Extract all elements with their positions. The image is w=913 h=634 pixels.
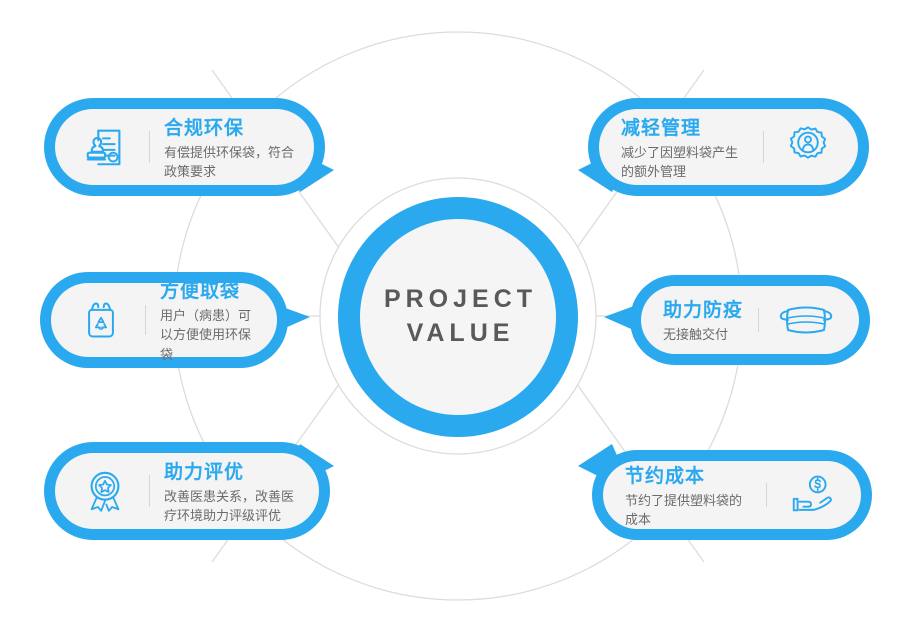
- card-convenient-bag-title: 方便取袋: [160, 276, 261, 303]
- card-reduce-management-title: 减轻管理: [621, 113, 749, 140]
- card-divider: [149, 131, 150, 163]
- card-rating-excellence-title: 助力评优: [164, 457, 303, 484]
- card-reduce-management[interactable]: 减轻管理 减少了因塑料袋产生的额外管理: [588, 98, 869, 196]
- card-compliance-desc: 有偿提供环保袋，符合政策要求: [164, 143, 298, 182]
- infographic-canvas: 合规环保 有偿提供环保袋，符合政策要求 减轻管理 减少了因塑料袋产生的额外管理: [0, 0, 913, 634]
- card-epidemic-prevention-title: 助力防疫: [663, 295, 744, 322]
- document-stamp-icon: [75, 117, 135, 177]
- center-hub-inner: PROJECT VALUE: [360, 219, 556, 415]
- hub-title-line1: PROJECT: [379, 283, 537, 317]
- card-compliance-title: 合规环保: [164, 113, 298, 140]
- card-divider: [766, 483, 767, 507]
- card-epidemic-prevention[interactable]: 助力防疫 无接触交付: [630, 275, 870, 365]
- hub-title-line2: VALUE: [402, 317, 515, 351]
- card-divider: [763, 131, 764, 163]
- recycle-bag-icon: [71, 290, 131, 350]
- card-convenient-bag-body: 方便取袋 用户（病患）可以方便使用环保袋: [51, 283, 277, 357]
- hand-money-icon: [781, 465, 841, 525]
- card-epidemic-prevention-body: 助力防疫 无接触交付: [641, 286, 859, 354]
- gear-person-icon: [778, 117, 838, 177]
- card-cost-saving[interactable]: 节约成本 节约了提供塑料袋的成本: [592, 450, 872, 540]
- card-divider: [149, 475, 150, 507]
- face-mask-icon: [773, 290, 839, 350]
- center-hub: PROJECT VALUE: [338, 197, 578, 437]
- card-reduce-management-text: 减轻管理 减少了因塑料袋产生的额外管理: [621, 113, 749, 182]
- card-reduce-management-body: 减轻管理 减少了因塑料袋产生的额外管理: [599, 109, 858, 185]
- card-cost-saving-text: 节约成本 节约了提供塑料袋的成本: [625, 461, 752, 530]
- card-cost-saving-body: 节约成本 节约了提供塑料袋的成本: [603, 461, 861, 529]
- card-cost-saving-desc: 节约了提供塑料袋的成本: [625, 491, 752, 530]
- card-epidemic-prevention-text: 助力防疫 无接触交付: [663, 295, 744, 345]
- card-rating-excellence-text: 助力评优 改善医患关系，改善医疗环境助力评级评优: [164, 457, 303, 526]
- card-convenient-bag-text: 方便取袋 用户（病患）可以方便使用环保袋: [160, 276, 261, 365]
- card-compliance-text: 合规环保 有偿提供环保袋，符合政策要求: [164, 113, 298, 182]
- card-divider: [758, 308, 759, 332]
- card-compliance-body: 合规环保 有偿提供环保袋，符合政策要求: [55, 109, 314, 185]
- card-compliance[interactable]: 合规环保 有偿提供环保袋，符合政策要求: [44, 98, 325, 196]
- card-convenient-bag[interactable]: 方便取袋 用户（病患）可以方便使用环保袋: [40, 272, 288, 368]
- card-cost-saving-title: 节约成本: [625, 461, 752, 488]
- card-epidemic-prevention-desc: 无接触交付: [663, 325, 744, 345]
- card-rating-excellence-body: 助力评优 改善医患关系，改善医疗环境助力评级评优: [55, 453, 319, 529]
- card-convenient-bag-desc: 用户（病患）可以方便使用环保袋: [160, 306, 261, 365]
- card-divider: [145, 305, 146, 335]
- card-rating-excellence[interactable]: 助力评优 改善医患关系，改善医疗环境助力评级评优: [44, 442, 330, 540]
- award-medal-icon: [75, 461, 135, 521]
- card-reduce-management-desc: 减少了因塑料袋产生的额外管理: [621, 143, 749, 182]
- card-rating-excellence-desc: 改善医患关系，改善医疗环境助力评级评优: [164, 487, 303, 526]
